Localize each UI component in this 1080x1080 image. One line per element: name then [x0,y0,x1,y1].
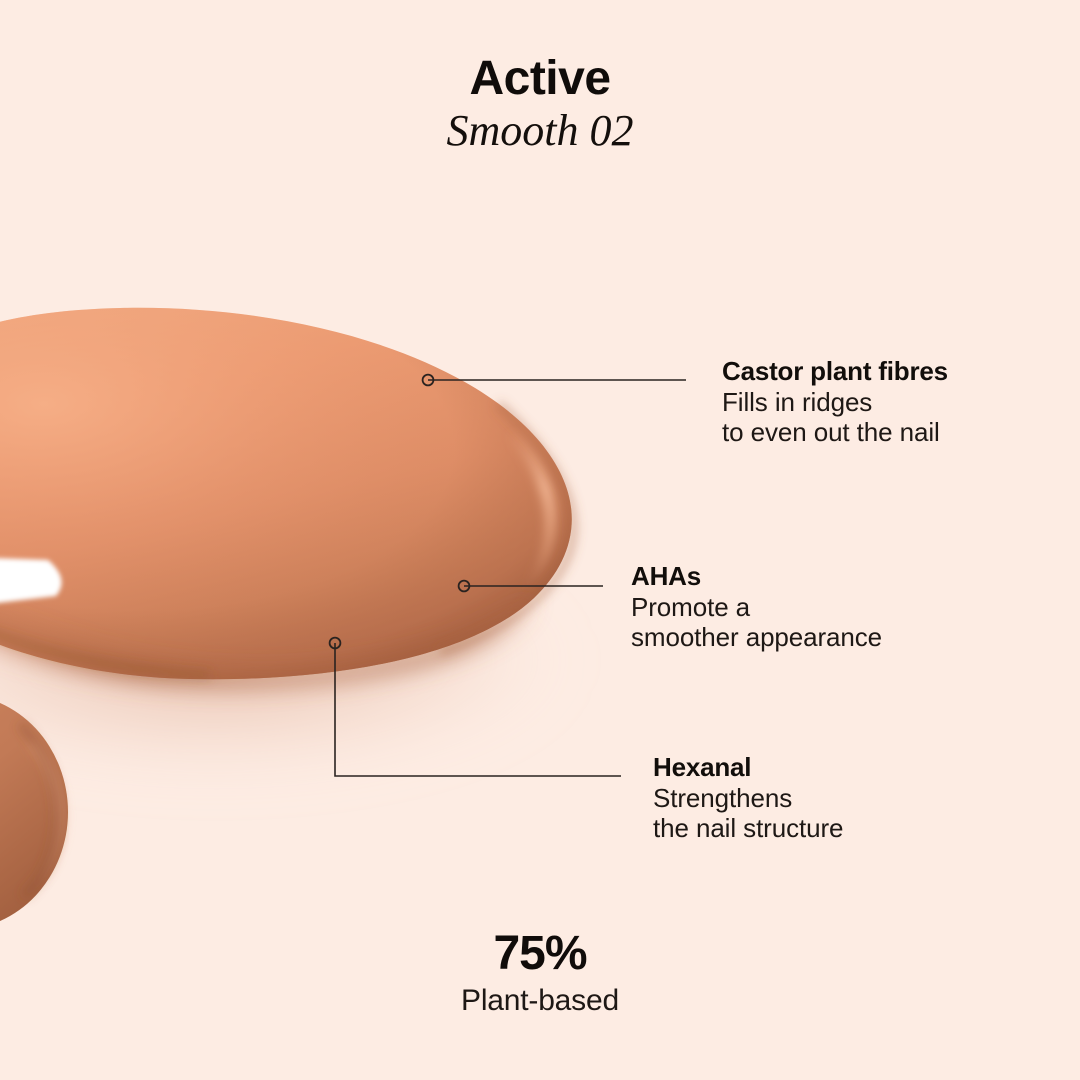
annotation-desc-line: Strengthens [653,783,843,814]
droplet-large-shadow [0,540,610,780]
droplet-large-bottom-band [0,520,534,685]
leader-marker-ring-castor [423,375,434,386]
droplet-large-edge-highlight [508,430,556,596]
annotation-desc-line: the nail structure [653,813,843,844]
droplet-large-specular-highlight [0,556,62,604]
annotation-title: AHAs [631,561,882,592]
annotation-castor-plant-fibres: Castor plant fibres Fills in ridges to e… [722,356,948,448]
stat-label: Plant-based [0,983,1080,1019]
page-title-block: Active Smooth 02 [0,54,1080,157]
droplet-large [0,308,573,685]
page-title: Active [0,54,1080,104]
annotation-hexanal: Hexanal Strengthens the nail structure [653,752,843,844]
page-subtitle: Smooth 02 [0,106,1080,157]
annotation-title: Hexanal [653,752,843,783]
annotation-desc-line: Promote a [631,592,882,623]
annotation-desc-line: Fills in ridges [722,387,948,418]
droplet-small [0,694,68,930]
annotation-title: Castor plant fibres [722,356,948,387]
annotation-desc-line: to even out the nail [722,417,948,448]
product-ingredient-infographic: Active Smooth 02 Castor plant fibres Fil… [0,0,1080,1080]
droplet-large-underside-shadow [0,560,210,675]
droplet-large-sheen [0,308,572,679]
droplet-large-body [0,308,572,679]
droplet-small-body [0,694,68,930]
droplet-large-contour [440,404,573,652]
annotation-ahas: AHAs Promote a smoother appearance [631,561,882,653]
droplet-artwork [0,0,1080,1080]
annotation-desc-line: smoother appearance [631,622,882,653]
droplet-small-contour [20,724,57,896]
leader-line-hexanal [335,643,621,776]
droplet-small-edge-highlight [26,742,65,886]
plant-based-stat: 75% Plant-based [0,929,1080,1019]
leader-marker-ring-ahas [459,581,470,592]
leader-marker-ring-hexanal [330,638,341,649]
stat-value: 75% [0,929,1080,979]
droplet-large-rim-shadow [0,308,572,679]
